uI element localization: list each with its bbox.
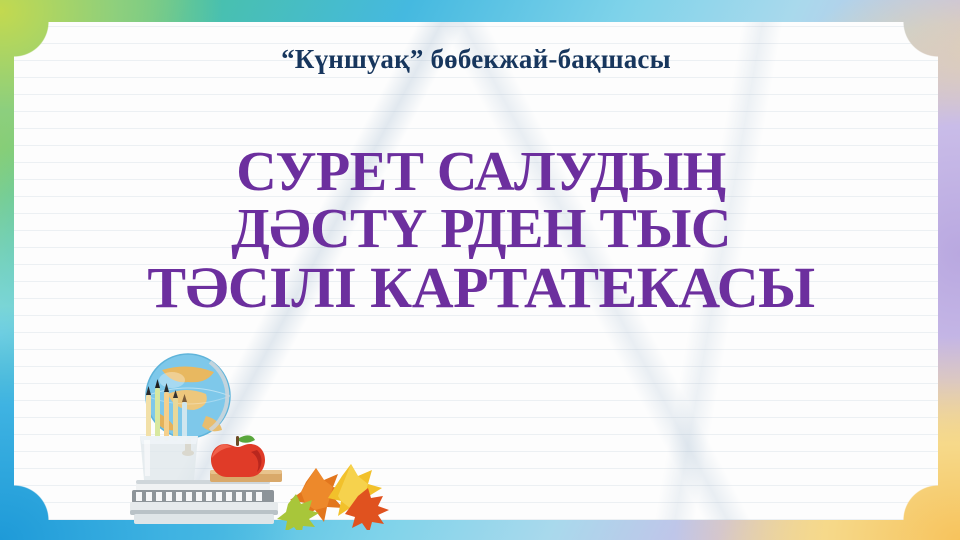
slide-canvas: “Күншуақ” бөбекжай-бақшасы СУРЕТ САЛУДЫҢ…	[0, 0, 960, 540]
apple-icon	[211, 435, 265, 477]
pencil-cup-icon	[140, 379, 198, 480]
organization-title: “Күншуақ” бөбекжай-бақшасы	[14, 44, 938, 75]
paper-panel-wrapper: “Күншуақ” бөбекжай-бақшасы СУРЕТ САЛУДЫҢ…	[14, 22, 938, 520]
slide-content: “Күншуақ” бөбекжай-бақшасы СУРЕТ САЛУДЫҢ…	[14, 22, 938, 520]
school-supplies-illustration	[110, 340, 410, 530]
page-title-line-3: ТӘСІЛІ КАРТАТЕКАСЫ	[34, 258, 928, 317]
page-title: СУРЕТ САЛУДЫҢ ДӘСТҮ РДЕН ТЫС ТӘСІЛІ КАРТ…	[34, 144, 928, 317]
book-stack-icon	[130, 470, 282, 524]
globe-icon	[146, 354, 230, 456]
page-title-line-1: СУРЕТ САЛУДЫҢ	[34, 144, 928, 201]
page-title-line-2: ДӘСТҮ РДЕН ТЫС	[34, 201, 928, 258]
